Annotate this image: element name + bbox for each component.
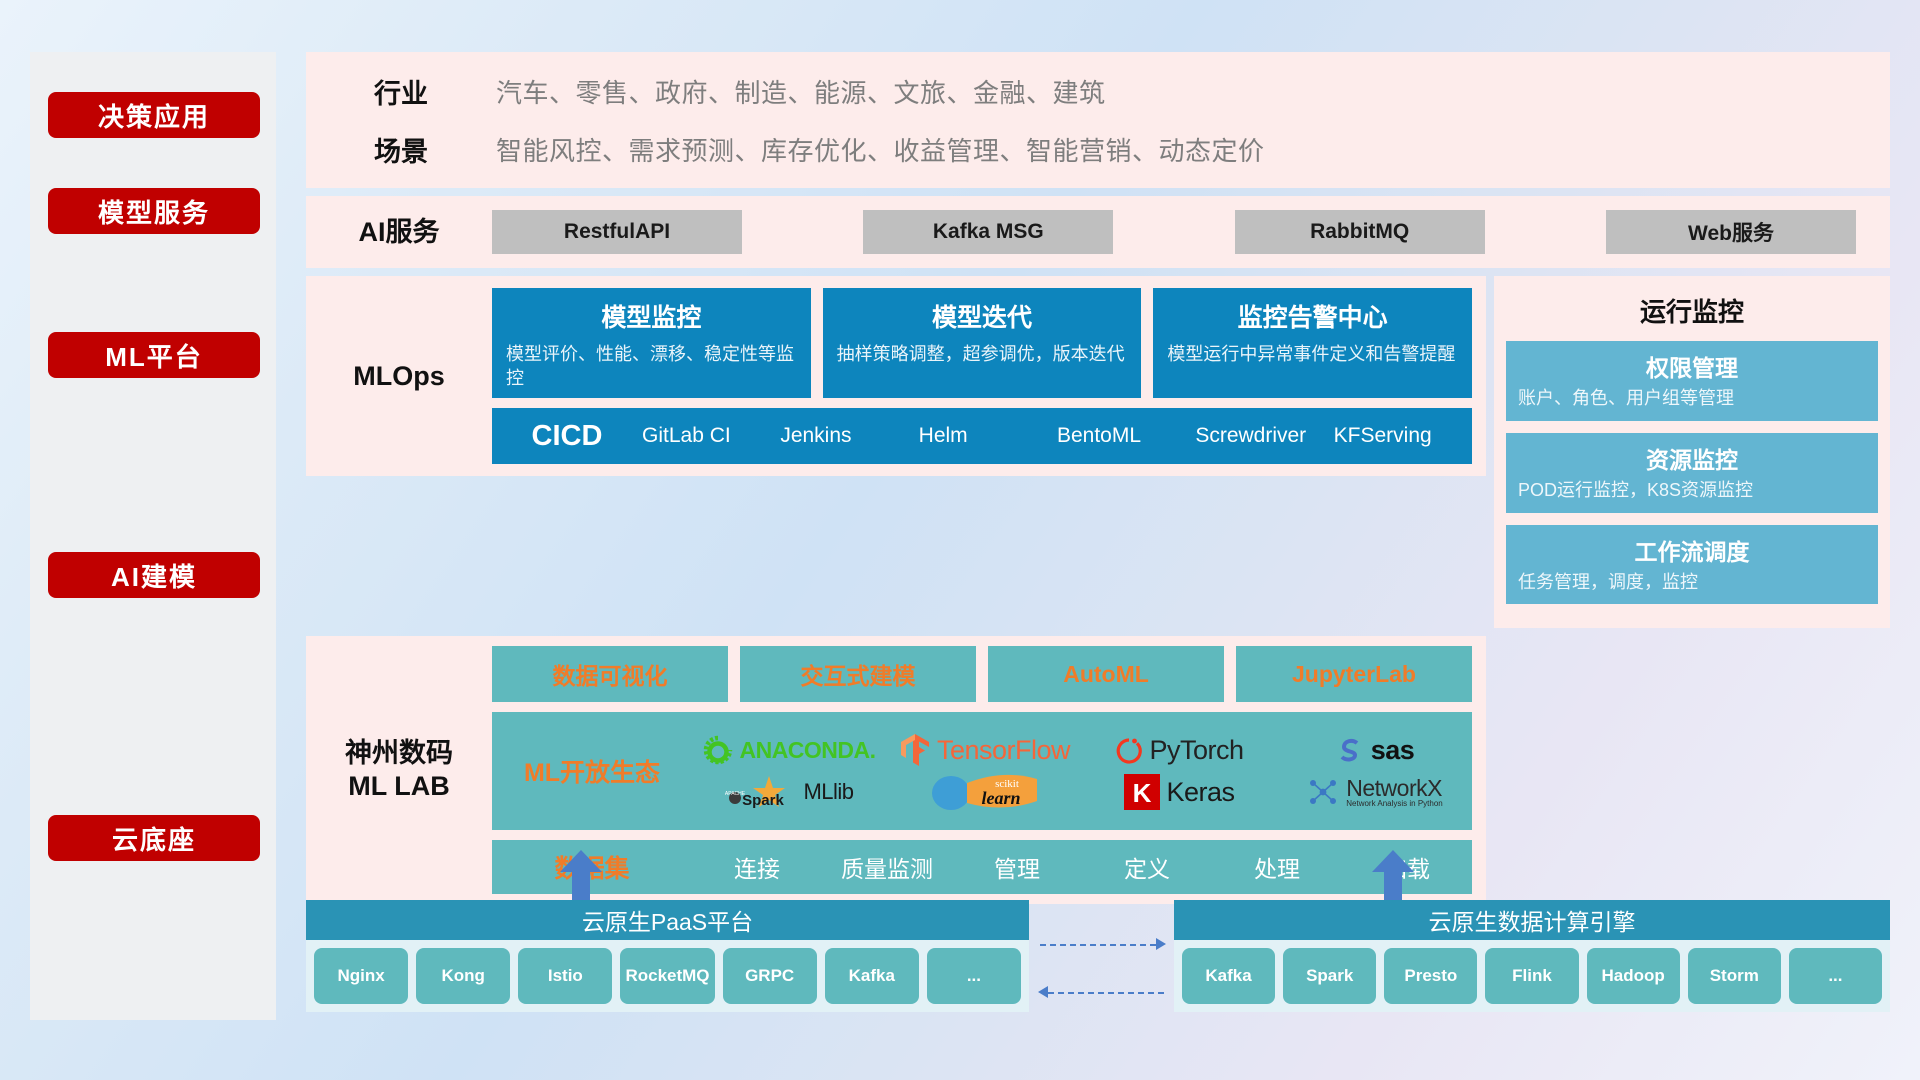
dataset-row: 数据集 连接 质量监测 管理 定义 处理 加载	[492, 840, 1472, 894]
paas-chip-istio[interactable]: Istio	[518, 948, 612, 1004]
scenario-row: 场景 智能风控、需求预测、库存优化、收益管理、智能营销、动态定价	[306, 120, 1890, 178]
compute-chip-presto[interactable]: Presto	[1384, 948, 1477, 1004]
dashed-arrow-right-head	[1156, 938, 1166, 950]
cicd-item-helm[interactable]: Helm	[919, 424, 1057, 448]
cicd-label: CICD	[492, 420, 642, 453]
paas-chip-rocketmq[interactable]: RocketMQ	[620, 948, 714, 1004]
tensorflow-icon	[899, 733, 931, 767]
service-chip-rabbitmq[interactable]: RabbitMQ	[1235, 210, 1485, 254]
ml-platform-row: MLOps 模型监控 模型评价、性能、漂移、稳定性等监控 模型迭代 抽样策略调整…	[306, 276, 1890, 628]
cicd-item-screwdriver[interactable]: Screwdriver	[1195, 424, 1333, 448]
spark-icon: APACHE Spark	[725, 772, 797, 812]
rail-chip-ai-modeling[interactable]: AI建模	[48, 552, 260, 598]
tool-chip-jupyterlab[interactable]: JupyterLab	[1236, 646, 1472, 702]
dataset-item-define[interactable]: 定义	[1082, 850, 1212, 884]
svg-text:learn: learn	[981, 788, 1020, 808]
ml-lab-label-line2: ML LAB	[348, 770, 450, 803]
compute-chip-flink[interactable]: Flink	[1485, 948, 1578, 1004]
paas-chip-kong[interactable]: Kong	[416, 948, 510, 1004]
paas-title: 云原生PaaS平台	[306, 900, 1029, 940]
paas-chip-grpc[interactable]: GRPC	[723, 948, 817, 1004]
rail-chip-cloud-base[interactable]: 云底座	[48, 815, 260, 861]
card-desc: 任务管理，调度，监控	[1518, 571, 1866, 595]
networkx-icon	[1306, 775, 1340, 809]
anaconda-logo: ANACONDA.	[692, 735, 887, 765]
keras-wordmark: Keras	[1166, 777, 1234, 808]
compute-engine-panel: 云原生数据计算引擎 Kafka Spark Presto Flink Hadoo…	[1174, 900, 1890, 1012]
ml-ecosystem-box: ML开放生态 ANACONDA.	[492, 712, 1472, 830]
paas-panel: 云原生PaaS平台 Nginx Kong Istio RocketMQ GRPC…	[306, 900, 1029, 1012]
dataset-item-connect[interactable]: 连接	[692, 850, 822, 884]
dataset-item-process[interactable]: 处理	[1212, 850, 1342, 884]
monitor-card-resource[interactable]: 资源监控 POD运行监控，K8S资源监控	[1506, 433, 1878, 513]
sas-wordmark: sas	[1371, 735, 1415, 766]
scikit-learn-logo: scikit learn	[887, 771, 1082, 813]
ml-lab-label: 神州数码 ML LAB	[306, 646, 492, 894]
rail-chip-ml-platform[interactable]: ML平台	[48, 332, 260, 378]
ml-lab-label-line1: 神州数码	[345, 737, 453, 770]
compute-chip-hadoop[interactable]: Hadoop	[1587, 948, 1680, 1004]
compute-chip-more[interactable]: ...	[1789, 948, 1882, 1004]
card-desc: 抽样策略调整，超参调优，版本迭代	[837, 342, 1128, 366]
anaconda-icon	[703, 735, 733, 765]
cicd-item-bentoml[interactable]: BentoML	[1057, 424, 1195, 448]
mlops-card-model-iteration[interactable]: 模型迭代 抽样策略调整，超参调优，版本迭代	[823, 288, 1142, 398]
mlops-band: MLOps 模型监控 模型评价、性能、漂移、稳定性等监控 模型迭代 抽样策略调整…	[306, 276, 1486, 476]
ai-service-label: AI服务	[306, 216, 492, 249]
service-chip-restfulapi[interactable]: RestfulAPI	[492, 210, 742, 254]
cicd-item-jenkins[interactable]: Jenkins	[780, 424, 918, 448]
card-title: 资源监控	[1518, 441, 1866, 475]
dashed-arrow-left-head	[1038, 986, 1048, 998]
industry-band: 行业 汽车、零售、政府、制造、能源、文旅、金融、建筑 场景 智能风控、需求预测、…	[306, 52, 1890, 188]
cloud-base-section: 云原生PaaS平台 Nginx Kong Istio RocketMQ GRPC…	[306, 900, 1890, 1020]
industry-row: 行业 汽车、零售、政府、制造、能源、文旅、金融、建筑	[306, 62, 1890, 120]
cicd-item-kfserving[interactable]: KFServing	[1334, 424, 1472, 448]
run-monitor-panel: 运行监控 权限管理 账户、角色、用户组等管理 资源监控 POD运行监控，K8S资…	[1494, 276, 1890, 628]
service-chip-web[interactable]: Web服务	[1606, 210, 1856, 254]
keras-logo: K Keras	[1082, 774, 1277, 810]
tool-chip-data-viz[interactable]: 数据可视化	[492, 646, 728, 702]
architecture-stack: 行业 汽车、零售、政府、制造、能源、文旅、金融、建筑 场景 智能风控、需求预测、…	[306, 52, 1890, 904]
compute-engine-title: 云原生数据计算引擎	[1174, 900, 1890, 940]
rail-chip-model-service[interactable]: 模型服务	[48, 188, 260, 234]
monitor-card-permission[interactable]: 权限管理 账户、角色、用户组等管理	[1506, 341, 1878, 421]
card-title: 工作流调度	[1518, 533, 1866, 567]
spark-mllib-logo: APACHE Spark MLlib	[692, 772, 887, 812]
card-title: 监控告警中心	[1167, 298, 1458, 334]
sas-logo: sas	[1277, 735, 1472, 766]
cicd-bar: CICD GitLab CI Jenkins Helm BentoML Scre…	[492, 408, 1472, 464]
tool-chip-interactive-modeling[interactable]: 交互式建模	[740, 646, 976, 702]
industry-value: 汽车、零售、政府、制造、能源、文旅、金融、建筑	[496, 73, 1106, 110]
anaconda-wordmark: ANACONDA.	[739, 737, 875, 764]
svg-text:K: K	[1133, 778, 1152, 808]
run-monitor-title: 运行监控	[1506, 292, 1878, 329]
mlops-label: MLOps	[306, 288, 492, 464]
dashed-arrow-right	[1040, 944, 1156, 946]
scikit-learn-icon: scikit learn	[963, 771, 1041, 813]
rail-chip-decision[interactable]: 决策应用	[48, 92, 260, 138]
dataset-item-manage[interactable]: 管理	[952, 850, 1082, 884]
paas-chip-kafka[interactable]: Kafka	[825, 948, 919, 1004]
cicd-item-gitlab-ci[interactable]: GitLab CI	[642, 424, 780, 448]
networkx-logo: NetworkX Network Analysis in Python	[1277, 775, 1472, 809]
card-title: 模型迭代	[837, 298, 1128, 334]
scenario-key: 场景	[306, 130, 496, 169]
ml-ecosystem-label: ML开放生态	[492, 753, 692, 789]
compute-chip-kafka[interactable]: Kafka	[1182, 948, 1275, 1004]
card-desc: 模型评价、性能、漂移、稳定性等监控	[506, 342, 797, 390]
card-desc: 账户、角色、用户组等管理	[1518, 387, 1866, 411]
ai-modeling-band: 神州数码 ML LAB 数据可视化 交互式建模 AutoML JupyterLa…	[306, 636, 1486, 904]
mlops-card-model-monitor[interactable]: 模型监控 模型评价、性能、漂移、稳定性等监控	[492, 288, 811, 398]
networkx-wordmark: NetworkX	[1346, 777, 1443, 800]
paas-chip-more[interactable]: ...	[927, 948, 1021, 1004]
card-desc: 模型运行中异常事件定义和告警提醒	[1167, 342, 1458, 366]
tool-chip-automl[interactable]: AutoML	[988, 646, 1224, 702]
paas-chip-nginx[interactable]: Nginx	[314, 948, 408, 1004]
svg-text:Spark: Spark	[743, 792, 785, 809]
pytorch-wordmark: PyTorch	[1149, 735, 1243, 766]
mllib-wordmark: MLlib	[803, 779, 853, 805]
service-chip-kafka-msg[interactable]: Kafka MSG	[863, 210, 1113, 254]
industry-key: 行业	[306, 72, 496, 111]
monitor-card-workflow[interactable]: 工作流调度 任务管理，调度，监控	[1506, 525, 1878, 605]
tensorflow-logo: TensorFlow	[887, 733, 1082, 767]
dashed-arrow-left	[1048, 992, 1164, 994]
compute-chip-storm[interactable]: Storm	[1688, 948, 1781, 1004]
tensorflow-wordmark: TensorFlow	[937, 735, 1070, 766]
scenario-value: 智能风控、需求预测、库存优化、收益管理、智能营销、动态定价	[496, 131, 1265, 168]
card-desc: POD运行监控，K8S资源监控	[1518, 479, 1866, 503]
layer-rail: 决策应用 模型服务 ML平台 AI建模 云底座	[30, 52, 276, 1020]
compute-chip-spark[interactable]: Spark	[1283, 948, 1376, 1004]
sas-icon	[1335, 735, 1365, 765]
pytorch-icon	[1115, 734, 1143, 766]
pytorch-logo: PyTorch	[1082, 734, 1277, 766]
dataset-item-quality[interactable]: 质量监测	[822, 850, 952, 884]
card-title: 模型监控	[506, 298, 797, 334]
networkx-tagline: Network Analysis in Python	[1346, 800, 1443, 808]
card-title: 权限管理	[1518, 349, 1866, 383]
ai-service-band: AI服务 RestfulAPI Kafka MSG RabbitMQ Web服务	[306, 196, 1890, 268]
mlops-card-alert-center[interactable]: 监控告警中心 模型运行中异常事件定义和告警提醒	[1153, 288, 1472, 398]
keras-icon: K	[1124, 774, 1160, 810]
